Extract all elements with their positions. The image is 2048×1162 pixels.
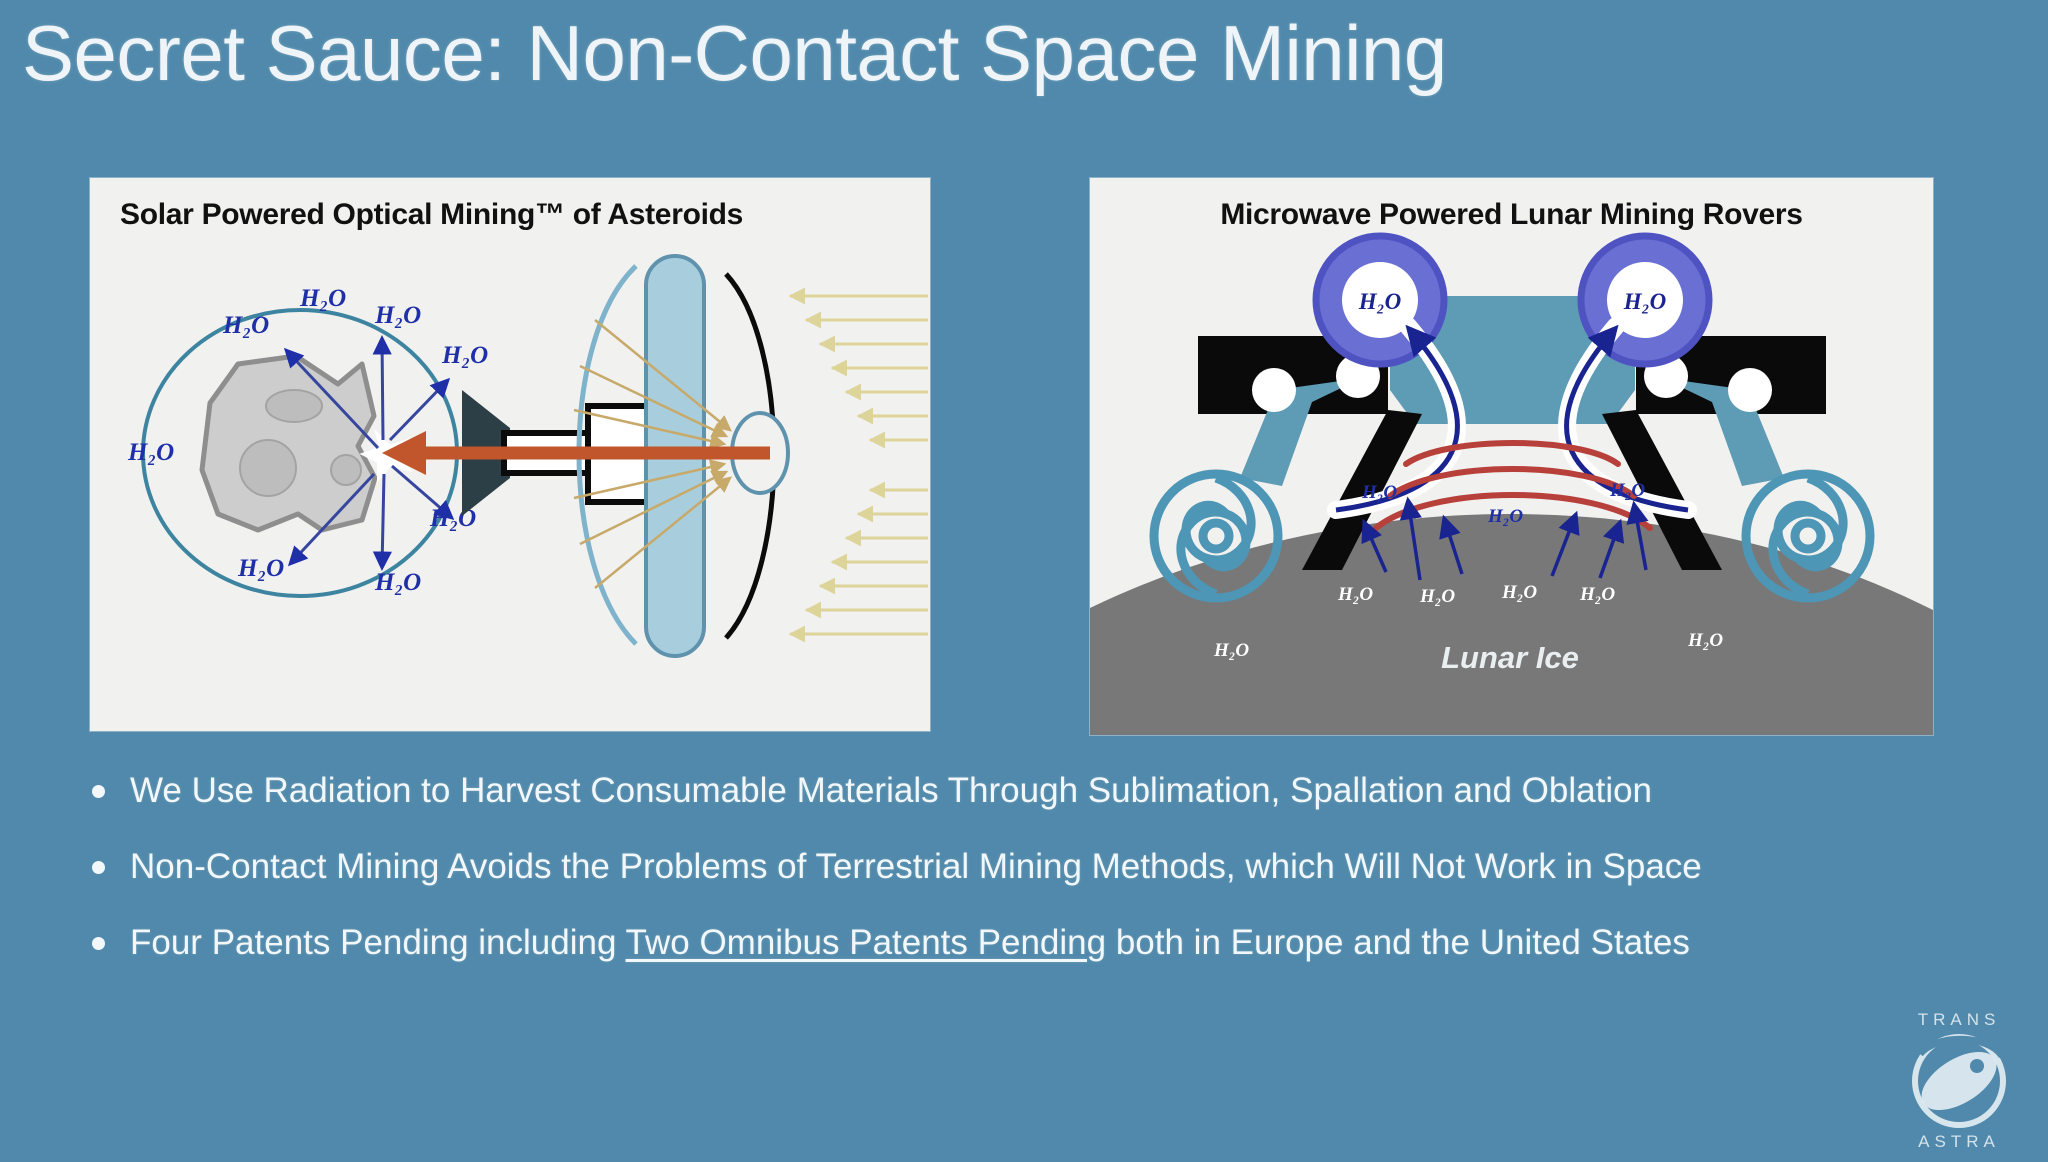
h2o-label: H₂O	[237, 555, 284, 582]
h2o-label: H₂O	[1487, 506, 1523, 527]
lunar-mining-diagram: H₂O H₂O	[1090, 178, 1933, 735]
bullet-marker	[92, 861, 105, 874]
h2o-label: H₂O	[374, 569, 421, 596]
panel-optical-mining: Solar Powered Optical Mining™ of Asteroi…	[90, 178, 930, 731]
bullet-list: We Use Radiation to Harvest Consumable M…	[78, 765, 1878, 993]
bullet-marker	[92, 937, 105, 950]
bullet-text-tail: both in Europe and the United States	[1106, 923, 1690, 962]
h2o-label: H₂O	[1213, 640, 1249, 661]
h2o-label: H₂O	[441, 342, 488, 369]
h2o-label: H₂O	[1501, 582, 1537, 603]
h2o-label: H₂O	[1337, 584, 1373, 605]
logo-top-text: TRANS	[1884, 1010, 2034, 1030]
panel-lunar-rovers: Microwave Powered Lunar Mining Rovers	[1090, 178, 1933, 735]
bullet-item: We Use Radiation to Harvest Consumable M…	[78, 765, 1878, 817]
rover-skirt	[1390, 390, 1635, 424]
h2o-label: H₂O	[1579, 584, 1615, 605]
bullet-text: We Use Radiation to Harvest Consumable M…	[130, 771, 1652, 810]
bullet-item: Non-Contact Mining Avoids the Problems o…	[78, 841, 1878, 893]
sunlight-rays	[790, 296, 928, 634]
h2o-label: H₂O	[1419, 586, 1455, 607]
h2o-label: H₂O	[127, 439, 174, 466]
h2o-label: H₂O	[374, 302, 421, 329]
h2o-label: H₂O	[1609, 480, 1645, 501]
tank-label-right: H₂O	[1623, 289, 1667, 314]
bullet-text: Four Patents Pending including	[130, 923, 626, 962]
bullet-item: Four Patents Pending including Two Omnib…	[78, 917, 1878, 969]
crater-large	[240, 440, 296, 496]
page-title: Secret Sauce: Non-Contact Space Mining	[22, 8, 1447, 99]
asteroid	[202, 356, 375, 530]
optical-mining-diagram: H₂O H₂O H₂O H₂O H₂O H₂O H₂O H₂O	[90, 178, 930, 731]
h2o-label: H₂O	[299, 285, 346, 312]
logo-bottom-text: ASTRA	[1884, 1132, 2034, 1152]
slide-root: Secret Sauce: Non-Contact Space Mining S…	[0, 0, 2048, 1162]
crater-small	[266, 390, 322, 422]
crater-tiny	[331, 455, 361, 485]
h2o-label: H₂O	[1361, 482, 1397, 503]
tank-label-left: H₂O	[1358, 289, 1402, 314]
trans-astra-logo: TRANS ASTRA	[1884, 1008, 2034, 1154]
lunar-ice-label: Lunar Ice	[1441, 640, 1579, 675]
bullet-emphasis: Two Omnibus Patents Pending	[626, 923, 1107, 962]
h2o-label: H₂O	[1687, 630, 1723, 651]
h2o-label: H₂O	[222, 312, 269, 339]
bullet-text: Non-Contact Mining Avoids the Problems o…	[130, 847, 1702, 886]
bullet-marker	[92, 785, 105, 798]
